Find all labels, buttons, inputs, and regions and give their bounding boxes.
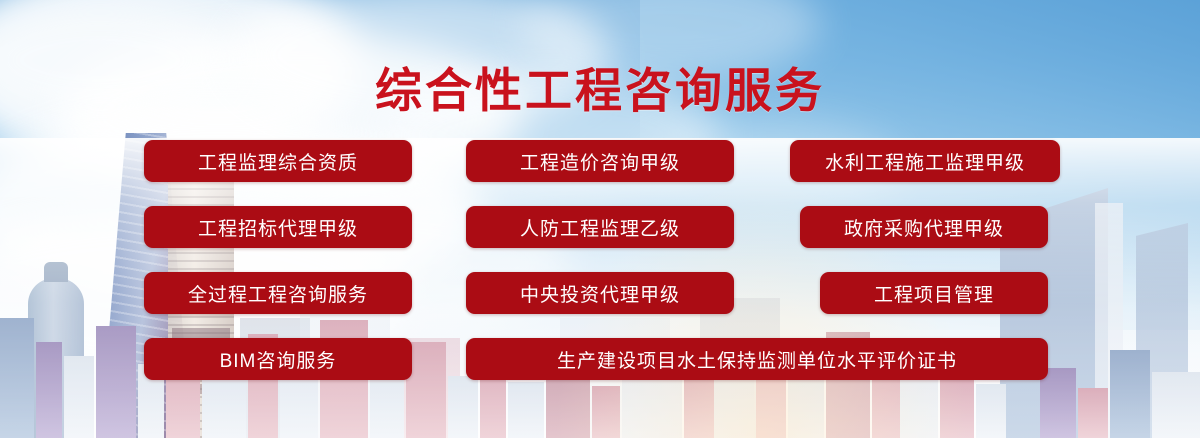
page-title: 综合性工程咨询服务 (0, 52, 1200, 121)
qualification-badge[interactable]: 生产建设项目水土保持监测单位水平评价证书 (466, 338, 1048, 380)
badge-row: 工程招标代理甲级 人防工程监理乙级 政府采购代理甲级 (0, 206, 1200, 272)
qualification-badge[interactable]: 人防工程监理乙级 (466, 206, 734, 248)
badge-row: 工程监理综合资质 工程造价咨询甲级 水利工程施工监理甲级 (0, 140, 1200, 206)
qualification-badge[interactable]: BIM咨询服务 (144, 338, 412, 380)
qualification-banner: 综合性工程咨询服务 工程监理综合资质 工程造价咨询甲级 水利工程施工监理甲级 工… (0, 0, 1200, 438)
qualification-badge[interactable]: 工程监理综合资质 (144, 140, 412, 182)
qualification-badge[interactable]: 工程项目管理 (820, 272, 1048, 314)
banner-content: 综合性工程咨询服务 工程监理综合资质 工程造价咨询甲级 水利工程施工监理甲级 工… (0, 0, 1200, 438)
qualification-badge[interactable]: 中央投资代理甲级 (466, 272, 734, 314)
badge-row: BIM咨询服务 生产建设项目水土保持监测单位水平评价证书 (0, 338, 1200, 404)
qualification-badge[interactable]: 政府采购代理甲级 (800, 206, 1048, 248)
qualification-badge[interactable]: 全过程工程咨询服务 (144, 272, 412, 314)
qualification-badge[interactable]: 工程招标代理甲级 (144, 206, 412, 248)
badge-row: 全过程工程咨询服务 中央投资代理甲级 工程项目管理 (0, 272, 1200, 338)
qualification-badge[interactable]: 工程造价咨询甲级 (466, 140, 734, 182)
qualification-badge-grid: 工程监理综合资质 工程造价咨询甲级 水利工程施工监理甲级 工程招标代理甲级 人防… (0, 140, 1200, 404)
qualification-badge[interactable]: 水利工程施工监理甲级 (790, 140, 1060, 182)
